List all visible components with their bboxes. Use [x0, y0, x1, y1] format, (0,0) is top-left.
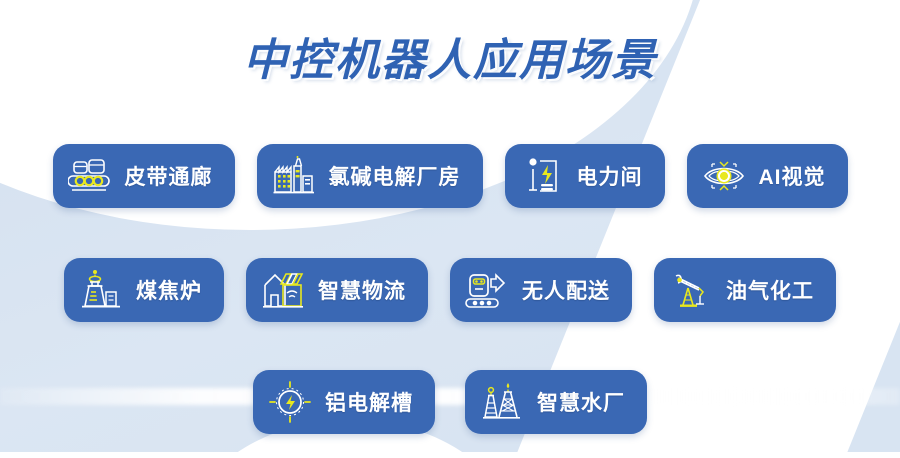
scenario-label: 智慧水厂: [537, 387, 625, 417]
scenario-item-unmanned-delivery[interactable]: 无人配送: [450, 258, 632, 322]
scenario-label: 铝电解槽: [325, 387, 413, 417]
scenario-label: 电力间: [577, 161, 643, 191]
coke-oven-icon: [78, 267, 124, 313]
scenario-item-smart-logistics[interactable]: 智慧物流: [246, 258, 428, 322]
scene-application-scenarios: 中控机器人应用场景 皮带: [0, 0, 900, 458]
scenario-label: 氯碱电解厂房: [329, 161, 461, 191]
scenario-item-chlor-alkali-plant[interactable]: 氯碱电解厂房: [257, 144, 483, 208]
scenario-item-power-room[interactable]: 电力间: [505, 144, 665, 208]
oil-pumpjack-icon: [668, 267, 714, 313]
delivery-robot-icon: [464, 267, 510, 313]
scenario-label: 油气化工: [726, 275, 814, 305]
ai-vision-eye-icon: [701, 153, 747, 199]
water-plant-icon: [479, 379, 525, 425]
chlor-alkali-plant-icon: [271, 153, 317, 199]
power-room-icon: [519, 153, 565, 199]
scenario-row-2: 煤焦炉 智慧物流: [0, 258, 900, 322]
scenario-label: AI视觉: [759, 161, 826, 191]
conveyor-belt-icon: [67, 153, 113, 199]
scenario-label: 无人配送: [522, 275, 610, 305]
scenario-item-conveyor-belt[interactable]: 皮带通廊: [53, 144, 235, 208]
scenario-item-oil-gas-chemical[interactable]: 油气化工: [654, 258, 836, 322]
scenario-row-3: 铝电解槽: [0, 370, 900, 434]
scenario-label: 智慧物流: [318, 275, 406, 305]
scenario-item-smart-water-plant[interactable]: 智慧水厂: [465, 370, 647, 434]
scenario-label: 皮带通廊: [125, 161, 213, 191]
scenario-row-1: 皮带通廊: [0, 144, 900, 208]
aluminum-cell-icon: [267, 379, 313, 425]
scenario-item-ai-vision[interactable]: AI视觉: [687, 144, 848, 208]
scenario-label: 煤焦炉: [136, 275, 202, 305]
scenario-item-coke-oven[interactable]: 煤焦炉: [64, 258, 224, 322]
smart-warehouse-icon: [260, 267, 306, 313]
page-title: 中控机器人应用场景: [0, 24, 900, 88]
scenario-item-aluminum-cell[interactable]: 铝电解槽: [253, 370, 435, 434]
